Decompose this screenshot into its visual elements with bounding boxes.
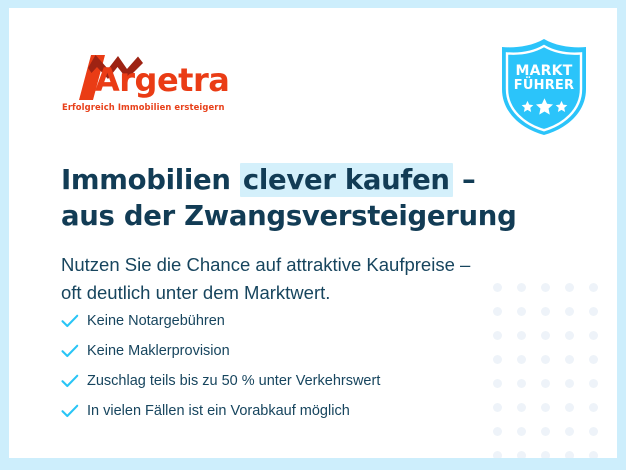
list-item: Zuschlag teils bis zu 50 % unter Verkehr… [61,366,531,396]
check-icon [61,314,87,328]
dot [541,379,550,388]
dot [565,331,574,340]
dot [589,403,598,412]
dot [565,451,574,458]
benefit-list: Keine Notargebühren Keine Maklerprovisio… [61,306,531,426]
dot [589,379,598,388]
check-icon [61,344,87,358]
logo-wordmark: Argetra [95,64,229,96]
dot [589,427,598,436]
dot [589,307,598,316]
dot [493,451,502,458]
subheadline-line-2: oft deutlich unter dem Marktwert. [61,282,330,303]
dot [541,427,550,436]
dot [589,355,598,364]
banner-frame: Argetra Erfolgreich Immobilien ersteiger… [0,0,626,470]
dot [541,403,550,412]
headline-highlight: clever kaufen [240,163,453,197]
headline-line-2: aus der Zwangsversteigerung [61,200,516,232]
headline-part-2: – [453,164,476,196]
shield-badge-icon [496,37,592,137]
dot [541,307,550,316]
dot [517,451,526,458]
logo-tagline: Erfolgreich Immobilien ersteigern [62,102,225,112]
dot [565,355,574,364]
headline-part-1: Immobilien [61,164,240,196]
dot [589,283,598,292]
benefit-label: Keine Maklerprovision [87,343,230,359]
dot [541,283,550,292]
dot [517,427,526,436]
markt-fuehrer-badge[interactable]: MARKT FÜHRER [496,37,592,137]
dot [565,283,574,292]
headline: Immobilien clever kaufen – aus der Zwang… [61,162,531,234]
list-item: In vielen Fällen ist ein Vorabkauf mögli… [61,396,531,426]
benefit-label: In vielen Fällen ist ein Vorabkauf mögli… [87,403,350,419]
subheadline: Nutzen Sie die Chance auf attraktive Kau… [61,251,541,307]
list-item: Keine Notargebühren [61,306,531,336]
subheadline-line-1: Nutzen Sie die Chance auf attraktive Kau… [61,254,470,275]
benefit-label: Keine Notargebühren [87,313,225,329]
check-icon [61,404,87,418]
dot [589,451,598,458]
dot [565,307,574,316]
banner-card: Argetra Erfolgreich Immobilien ersteiger… [9,8,617,458]
list-item: Keine Maklerprovision [61,336,531,366]
dot [589,331,598,340]
dot [493,427,502,436]
dot [565,379,574,388]
benefit-label: Zuschlag teils bis zu 50 % unter Verkehr… [87,373,380,389]
dot [565,427,574,436]
dot [541,331,550,340]
dot [565,403,574,412]
argetra-logo[interactable]: Argetra Erfolgreich Immobilien ersteiger… [61,52,251,118]
dot [541,355,550,364]
check-icon [61,374,87,388]
dot [541,451,550,458]
